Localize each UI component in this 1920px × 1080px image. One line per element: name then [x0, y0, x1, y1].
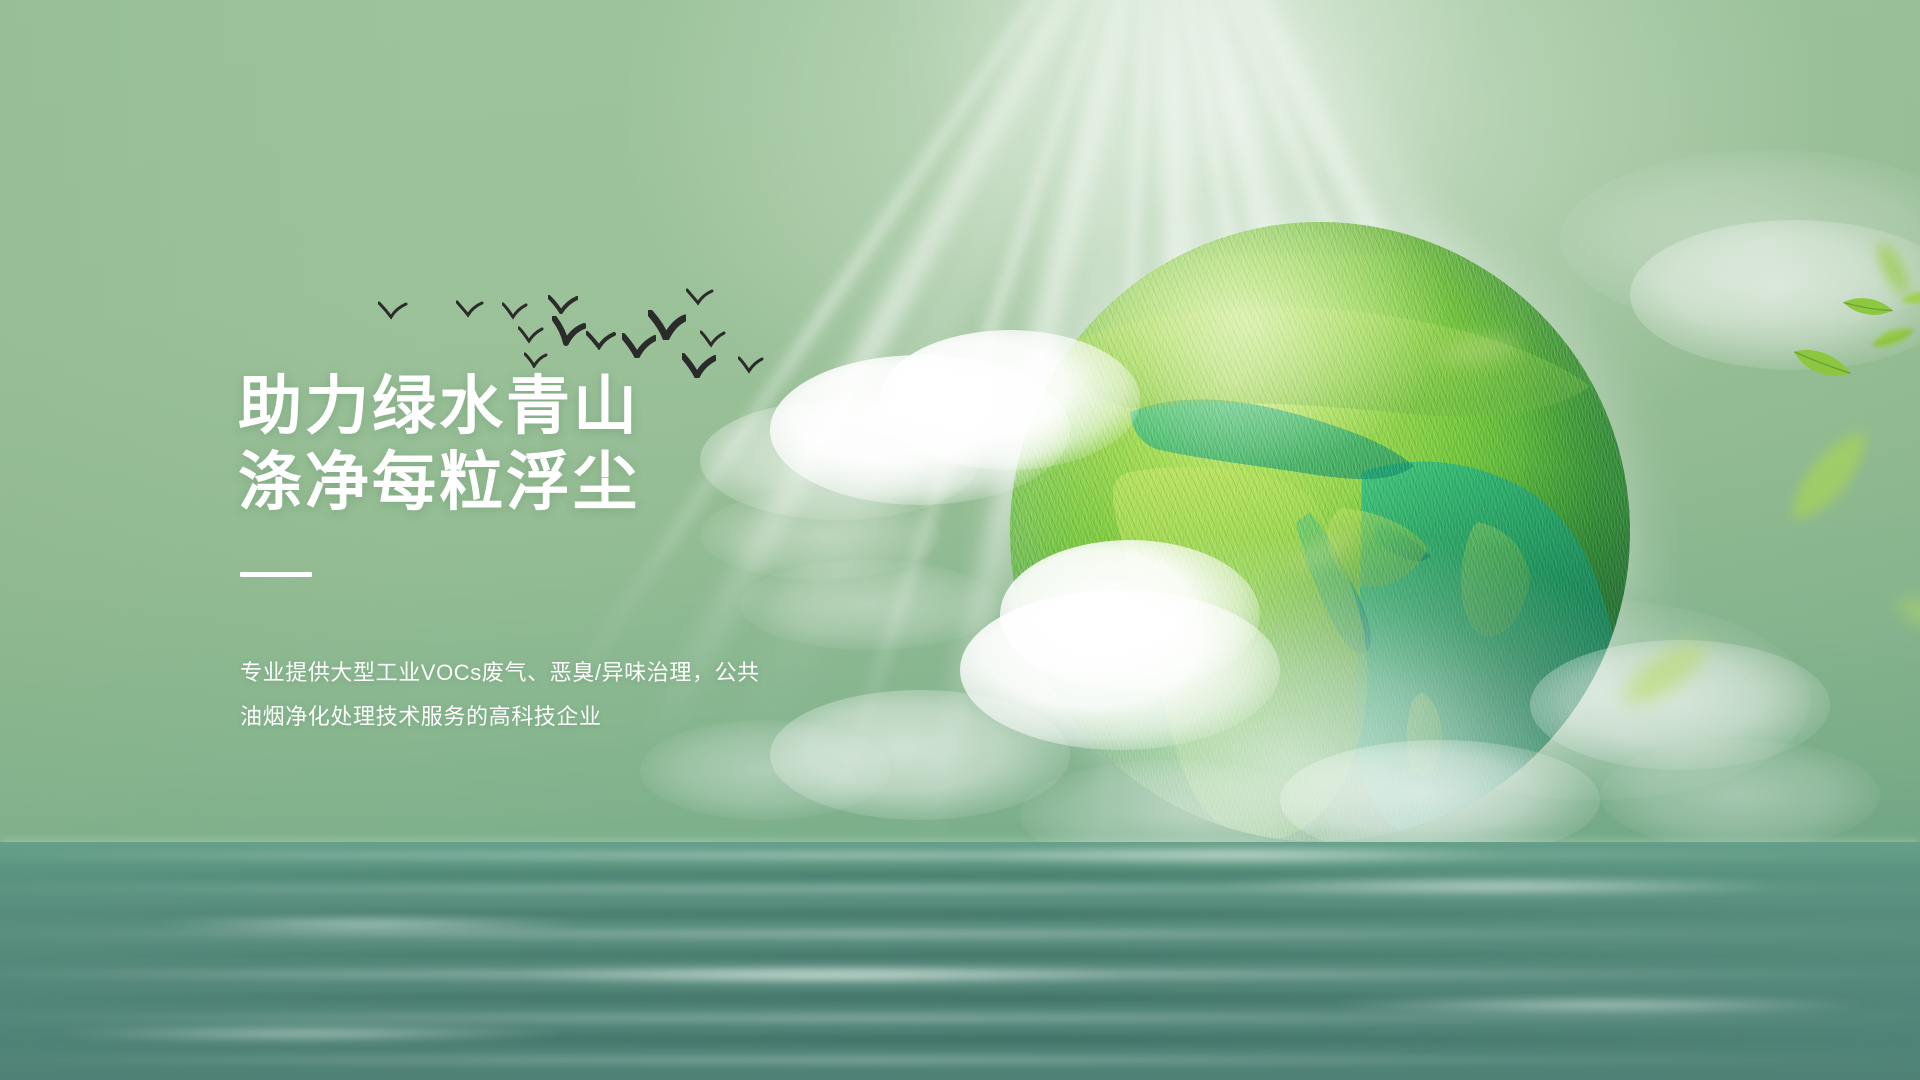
water-ripple: [0, 950, 1920, 960]
water-ripple: [0, 930, 1920, 938]
water-glint: [1340, 998, 1860, 1012]
water-glint: [1220, 878, 1780, 894]
hero-subtitle: 专业提供大型工业VOCs废气、恶臭/异味治理，公共油烟净化处理技术服务的高科技企…: [240, 651, 780, 739]
water-ripple: [0, 852, 1920, 859]
water-glint: [520, 968, 1120, 982]
water-glint: [980, 848, 1500, 862]
hero-banner: 助力绿水青山 涤净每粒浮尘 专业提供大型工业VOCs废气、恶臭/异味治理，公共油…: [0, 0, 1920, 1080]
headline-line-2: 涤净每粒浮尘: [238, 444, 998, 520]
title-divider: [240, 572, 312, 577]
water-glint: [160, 918, 580, 930]
page-title: 助力绿水青山 涤净每粒浮尘: [238, 368, 998, 520]
water-ripple: [0, 1014, 1920, 1022]
water-glint: [60, 1028, 560, 1040]
headline-line-1: 助力绿水青山: [238, 368, 998, 444]
water-ripple: [0, 1056, 1920, 1064]
hero-copy: 助力绿水青山 涤净每粒浮尘 专业提供大型工业VOCs废气、恶臭/异味治理，公共油…: [238, 368, 998, 739]
globe-cloud-haze: [1010, 544, 1630, 842]
water-surface: [0, 842, 1920, 1080]
